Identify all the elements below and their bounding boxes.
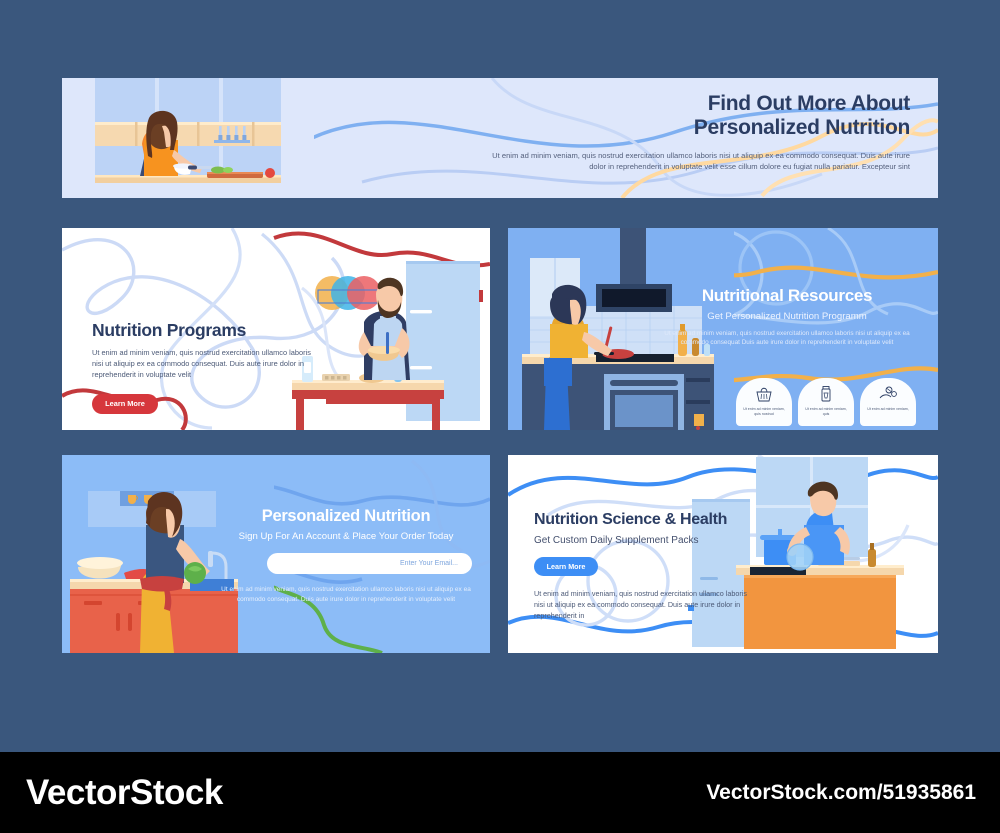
body-copy: Ut enim ad minim veniam, quis nostrud ex… xyxy=(490,150,910,172)
banner-nutritional-resources[interactable]: Nutritional Resources Get Personalized N… xyxy=(508,228,938,430)
illustration-woman-chopping-vegetables xyxy=(62,78,314,198)
headline-line-1: Find Out More About xyxy=(490,92,910,116)
feature-card-caption: Ut enim ad minim veniam, quis xyxy=(802,407,850,417)
banner-nutrition-programs[interactable]: Nutrition Programs Ut enim ad minim veni… xyxy=(62,228,490,430)
feature-card[interactable]: Ut enim ad minim veniam, quis nostrud xyxy=(736,378,792,426)
body-copy: Ut enim ad minim veniam, quis nostrud ex… xyxy=(220,585,472,605)
body-copy: Ut enim ad minim veniam, quis nostrud ex… xyxy=(92,348,317,380)
banner-text-block: Personalized Nutrition Sign Up For An Ac… xyxy=(220,507,472,605)
feature-card-caption: Ut enim ad minim veniam, xyxy=(864,407,912,412)
feature-card[interactable]: Ut enim ad minim veniam, xyxy=(860,378,916,426)
subheadline: Sign Up For An Account & Place Your Orde… xyxy=(220,531,472,542)
feature-card-list: Ut enim ad minim veniam, quis nostrud Ut… xyxy=(736,378,916,426)
banner-personalized-nutrition[interactable]: Personalized Nutrition Sign Up For An Ac… xyxy=(62,455,490,653)
pills-hand-icon xyxy=(878,385,898,403)
body-copy: Ut enim ad minim veniam, quis nostrud ex… xyxy=(534,588,749,621)
basket-icon xyxy=(754,385,774,403)
feature-card[interactable]: Ut enim ad minim veniam, quis xyxy=(798,378,854,426)
vectorstock-logo: VectorStock xyxy=(26,773,223,813)
jar-icon xyxy=(816,385,836,403)
page-title: Nutrition Science & Health xyxy=(534,511,749,530)
email-placeholder: Enter Your Email... xyxy=(400,560,458,567)
banner-text-block: Nutrition Science & Health Get Custom Da… xyxy=(534,511,749,621)
learn-more-button[interactable]: Learn More xyxy=(534,557,598,576)
vectorstock-url: VectorStock.com/51935861 xyxy=(706,781,976,805)
page-title: Nutritional Resources xyxy=(656,286,918,306)
banner-text-block: Find Out More About Personalized Nutriti… xyxy=(490,92,910,172)
banner-collection: Find Out More About Personalized Nutriti… xyxy=(0,0,1000,752)
body-copy: Ut enim ad minim veniam, quis nostrud ex… xyxy=(656,329,918,348)
learn-more-button[interactable]: Learn More xyxy=(92,394,158,414)
banner-text-block: Nutritional Resources Get Personalized N… xyxy=(656,286,918,348)
email-signup-field[interactable]: Enter Your Email... xyxy=(267,553,472,574)
headline-line-2: Personalized Nutrition xyxy=(490,116,910,140)
page-title: Nutrition Programs xyxy=(92,320,317,340)
banner-nutrition-science-health[interactable]: Nutrition Science & Health Get Custom Da… xyxy=(508,455,938,653)
footer-watermark-bar: VectorStock VectorStock.com/51935861 xyxy=(0,752,1000,833)
page-title: Find Out More About Personalized Nutriti… xyxy=(490,92,910,141)
subheadline: Get Custom Daily Supplement Packs xyxy=(534,535,749,546)
banner-find-out-more[interactable]: Find Out More About Personalized Nutriti… xyxy=(62,78,938,198)
subheadline: Get Personalized Nutrition Programm xyxy=(656,311,918,322)
feature-card-caption: Ut enim ad minim veniam, quis nostrud xyxy=(740,407,788,417)
banner-text-block: Nutrition Programs Ut enim ad minim veni… xyxy=(92,320,317,414)
page-title: Personalized Nutrition xyxy=(220,507,472,526)
